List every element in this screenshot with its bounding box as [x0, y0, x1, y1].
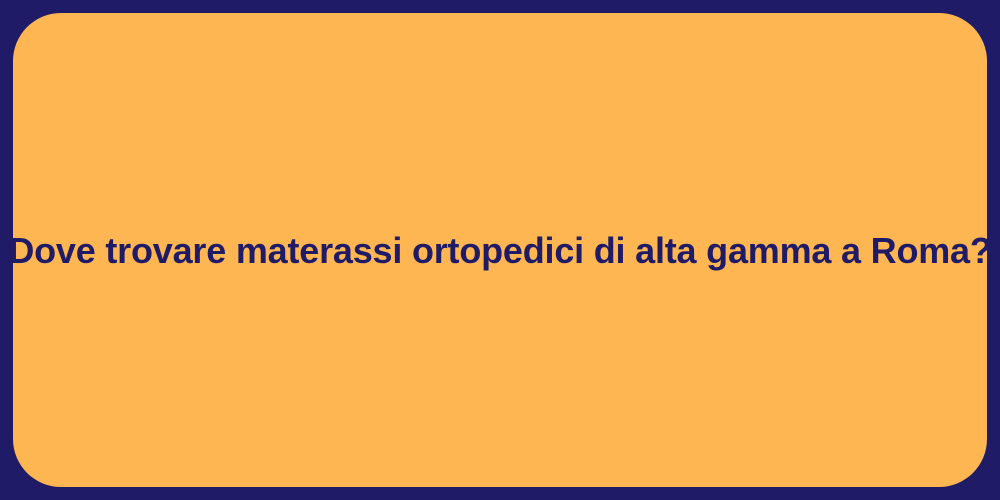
- banner-card: Dove trovare materassi ortopedici di alt…: [13, 13, 987, 487]
- page-title: Dove trovare materassi ortopedici di alt…: [8, 228, 991, 273]
- banner-frame: Dove trovare materassi ortopedici di alt…: [0, 0, 1000, 500]
